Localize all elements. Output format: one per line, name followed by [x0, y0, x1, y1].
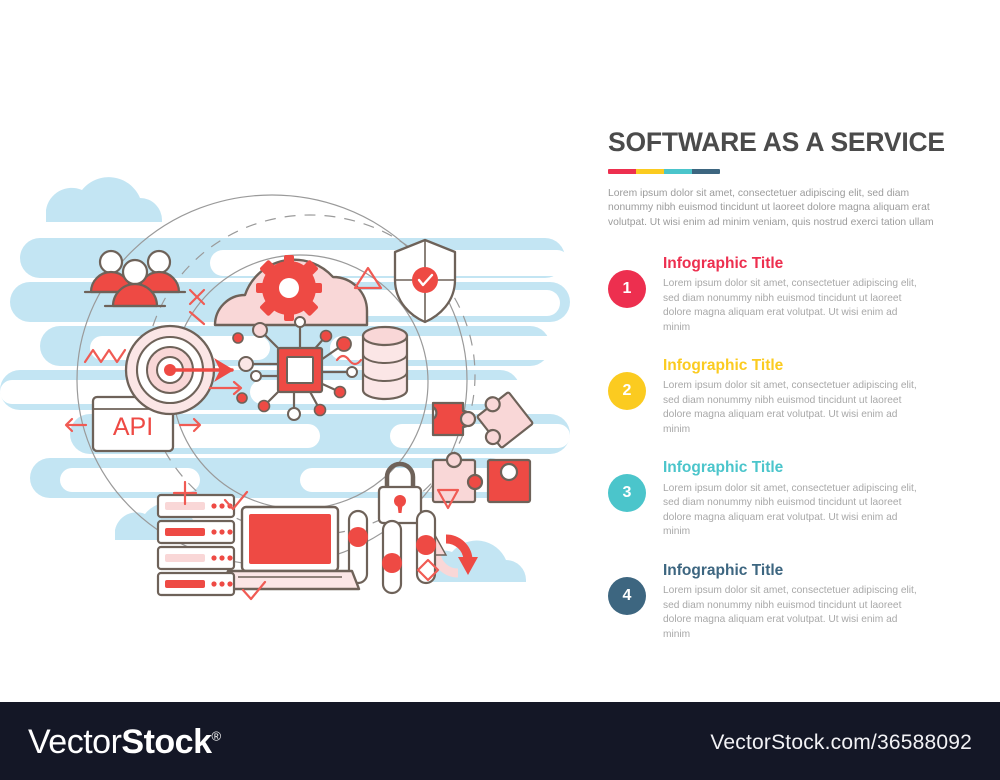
intro-paragraph: Lorem ipsum dolor sit amet, consectetuer… [608, 187, 938, 230]
watermark-footer: VectorStock® VectorStock.com/36588092 [0, 702, 1000, 780]
vectorstock-logo: VectorStock® [28, 723, 221, 762]
database-icon [363, 327, 407, 399]
brand-bold: Stock [121, 723, 211, 761]
saas-illustration: .ln { fill:none; stroke:#6E6259; stroke-… [0, 90, 600, 610]
item-title-3: Infographic Title [663, 458, 940, 477]
list-item[interactable]: 1 Infographic Title Lorem ipsum dolor si… [608, 254, 940, 335]
item-number-badge-3: 3 [608, 474, 646, 512]
server-rack-icon [158, 495, 234, 595]
item-title-4: Infographic Title [663, 561, 940, 580]
content-panel: SOFTWARE AS A SERVICE Lorem ipsum dolor … [608, 128, 940, 663]
item-number-badge-1: 1 [608, 270, 646, 308]
divider-segment-2 [636, 169, 664, 174]
divider-segment-1 [608, 169, 636, 174]
list-item[interactable]: 4 Infographic Title Lorem ipsum dolor si… [608, 561, 940, 642]
item-description-3: Lorem ipsum dolor sit amet, consectetuer… [663, 482, 925, 540]
item-number-badge-2: 2 [608, 372, 646, 410]
item-title-2: Infographic Title [663, 356, 940, 375]
decorative-cloud-top-left [46, 177, 162, 222]
accent-divider [608, 169, 720, 174]
item-description-2: Lorem ipsum dolor sit amet, consectetuer… [663, 379, 925, 437]
page-title: SOFTWARE AS A SERVICE [608, 128, 940, 157]
api-label: API [113, 413, 153, 441]
divider-segment-4 [692, 169, 720, 174]
item-description-1: Lorem ipsum dolor sit amet, consectetuer… [663, 277, 925, 335]
item-description-4: Lorem ipsum dolor sit amet, consectetuer… [663, 584, 925, 642]
registered-mark-icon: ® [211, 729, 220, 744]
sliders-icon [348, 511, 436, 593]
vectorstock-url: VectorStock.com/36588092 [710, 731, 972, 755]
brand-light: Vector [28, 723, 121, 761]
laptop-icon [221, 507, 359, 589]
item-title-1: Infographic Title [663, 254, 940, 273]
infographic-items-list: 1 Infographic Title Lorem ipsum dolor si… [608, 254, 940, 642]
divider-segment-3 [664, 169, 692, 174]
item-number-badge-4: 4 [608, 577, 646, 615]
list-item[interactable]: 3 Infographic Title Lorem ipsum dolor si… [608, 458, 940, 539]
infographic-page: .ln { fill:none; stroke:#6E6259; stroke-… [0, 0, 1000, 780]
list-item[interactable]: 2 Infographic Title Lorem ipsum dolor si… [608, 356, 940, 437]
